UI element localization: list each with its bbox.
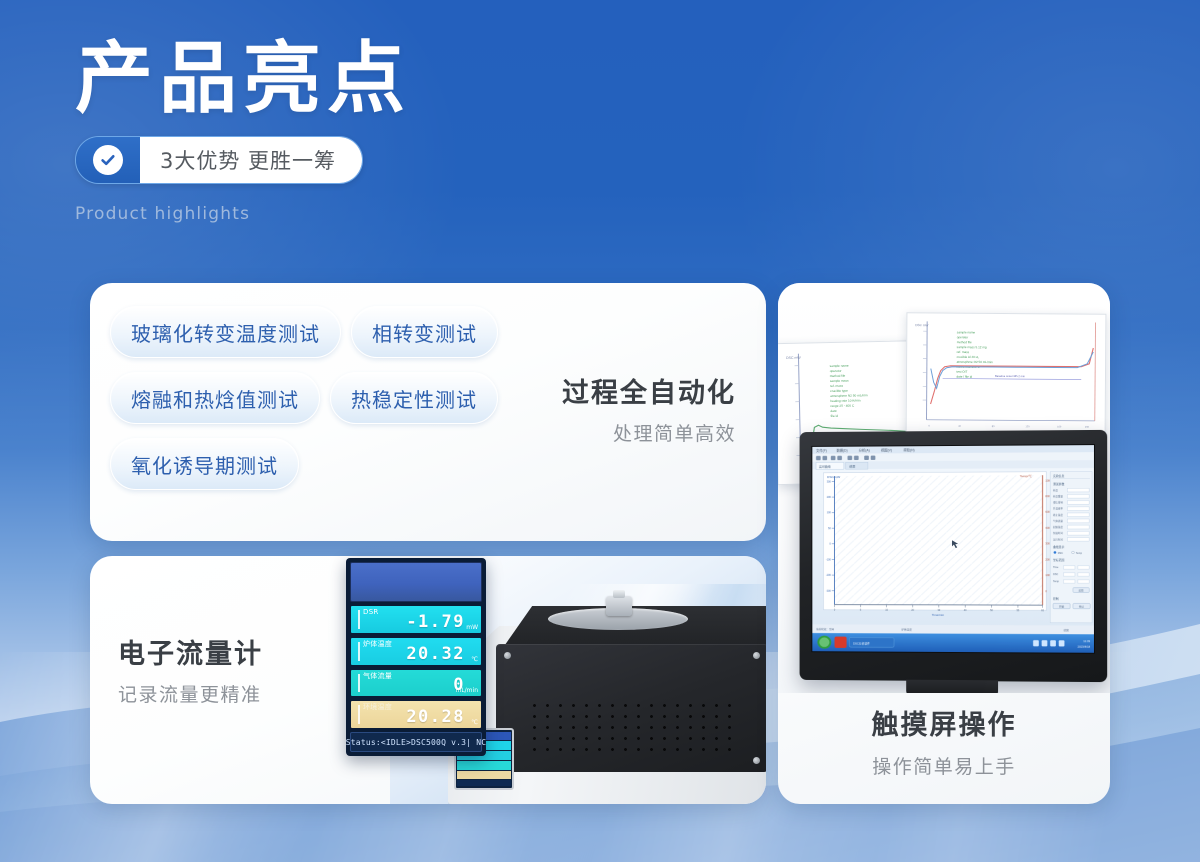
svg-text:DSC mW: DSC mW (915, 323, 928, 327)
feature-tag-row: 氧化诱导期测试 (110, 438, 565, 490)
svg-text:文件(F): 文件(F) (816, 448, 827, 453)
svg-text:停止: 停止 (1079, 604, 1085, 608)
svg-text:300: 300 (827, 480, 832, 483)
panel-screw (753, 652, 760, 659)
instrument-front-panel (496, 644, 766, 772)
svg-text:当前状态：空闲: 当前状态：空闲 (816, 627, 835, 631)
card-touchscreen-operation: sample nameoperator method filesample ma… (778, 283, 1110, 804)
lcd-row-gas-flow: 气体流量 0 mL/min (350, 669, 482, 698)
svg-text:sample name: sample name (957, 330, 976, 334)
flow-title: 电子流量计 (118, 632, 263, 671)
feature-tag[interactable]: 氧化诱导期测试 (110, 438, 299, 490)
badge-icon-area (76, 137, 140, 183)
monitor-screen[interactable]: 文件(F)数据(D) 分析(A)视图(V) 帮助(H) (811, 444, 1095, 654)
dsc-curve-front-chart: DSC mW sample nameoperator method filesa… (906, 312, 1107, 439)
svg-text:date: date (830, 409, 837, 413)
svg-text:600: 600 (1045, 511, 1050, 514)
feature-tag[interactable]: 热稳定性测试 (330, 372, 498, 424)
chart-canvas: DSC mW sample nameoperator method filesa… (907, 313, 1106, 438)
ventilation-grid (528, 700, 738, 756)
badge-label: 3大优势 更胜一筹 (140, 137, 362, 183)
lcd-unit: ℃ (471, 719, 478, 726)
svg-text:Temp: Temp (1053, 581, 1060, 583)
svg-text:crucible type: crucible type (830, 389, 848, 393)
svg-text:file id: file id (831, 414, 839, 418)
svg-text:测试参数: 测试参数 (1053, 482, 1065, 486)
svg-text:400: 400 (1045, 527, 1050, 530)
svg-text:分析(A): 分析(A) (859, 448, 870, 453)
svg-text:11:09: 11:09 (1083, 639, 1090, 643)
svg-text:DSC分析软件: DSC分析软件 (853, 642, 870, 646)
svg-text:DSC: DSC (1058, 553, 1064, 555)
feature-tag-row: 玻璃化转变温度测试 相转变测试 (110, 306, 565, 358)
svg-text:date / file id: date / file id (956, 375, 972, 379)
svg-text:test OIT: test OIT (957, 370, 968, 374)
svg-text:Time/min: Time/min (932, 613, 945, 617)
svg-text:200: 200 (827, 496, 832, 499)
svg-text:method file: method file (957, 340, 972, 344)
svg-text:atmosphere N2 50 mL/min: atmosphere N2 50 mL/min (830, 393, 868, 398)
svg-text:operator: operator (830, 369, 842, 373)
svg-text:Baseline onset 185.2 min: Baseline onset 185.2 min (995, 374, 1025, 378)
svg-text:100: 100 (1045, 574, 1050, 577)
instrument-body (448, 594, 766, 804)
lcd-strip-status (457, 780, 511, 786)
feature-tag[interactable]: 熔融和热焓值测试 (110, 372, 320, 424)
lcd-value: 20.28 (406, 707, 465, 727)
svg-text:数据(D): 数据(D) (836, 448, 847, 453)
svg-text:炉体温度: 炉体温度 (901, 628, 912, 632)
feature-tag[interactable]: 相转变测试 (351, 306, 498, 358)
page-subtitle: Product highlights (75, 204, 411, 224)
feature-tag[interactable]: 玻璃化转变温度测试 (110, 306, 341, 358)
svg-text:控制: 控制 (1053, 597, 1059, 601)
touchscreen-monitor[interactable]: 文件(F)数据(D) 分析(A)视图(V) 帮助(H) (800, 430, 1108, 682)
svg-text:视图(V): 视图(V) (881, 448, 892, 453)
svg-text:ref. mass: ref. mass (830, 384, 844, 388)
flow-meter-lcd-display[interactable]: DSR -1.79 mW 炉体温度 20.32 ℃ 气体流量 0 mL/min … (346, 558, 486, 756)
touchscreen-photo: sample nameoperator method filesample ma… (778, 283, 1110, 693)
svg-text:heating rate 10 K/min: heating rate 10 K/min (830, 398, 860, 403)
feature-caption: 过程全自动化 处理简单高效 (562, 371, 736, 446)
svg-text:-300: -300 (826, 590, 832, 593)
svg-text:Temp: Temp (1076, 553, 1083, 555)
touchscreen-title: 触摸屏操作 (778, 703, 1110, 742)
svg-text:range 25 - 400 C: range 25 - 400 C (830, 404, 855, 408)
svg-text:200: 200 (1085, 426, 1090, 429)
svg-text:结果: 结果 (849, 464, 855, 469)
panel-screw (504, 652, 511, 659)
monitor-stand (906, 680, 998, 693)
svg-text:40: 40 (958, 425, 961, 428)
check-circle-icon (93, 145, 123, 175)
flow-subtitle: 记录流量更精准 (118, 680, 263, 707)
svg-text:crucible Al 40 uL: crucible Al 40 uL (957, 355, 980, 359)
lcd-row-dsr: DSR -1.79 mW (350, 605, 482, 634)
lcd-value: -1.79 (406, 612, 465, 632)
svg-text:DSC/mW: DSC/mW (827, 475, 840, 479)
svg-text:800: 800 (1045, 495, 1050, 498)
svg-text:2023/8/18: 2023/8/18 (1078, 645, 1091, 649)
svg-text:开始: 开始 (1059, 604, 1065, 608)
touchscreen-caption: 触摸屏操作 操作简单易上手 (778, 703, 1110, 779)
svg-text:sample name: sample name (830, 364, 849, 368)
svg-text:sample mass: sample mass (830, 379, 849, 383)
svg-text:sample mass 5.12 mg: sample mass 5.12 mg (957, 345, 987, 349)
svg-text:80: 80 (992, 425, 995, 428)
page-header: 产品亮点 3大优势 更胜一筹 Product highlights (75, 38, 411, 224)
page-title: 产品亮点 (75, 38, 411, 120)
lcd-value: 20.32 (406, 644, 465, 664)
svg-text:帮助(H): 帮助(H) (903, 448, 914, 453)
svg-text:method file: method file (830, 374, 846, 378)
svg-text:曲线显示: 曲线显示 (1053, 545, 1065, 549)
svg-text:160: 160 (1057, 426, 1062, 429)
svg-text:坐标范围: 坐标范围 (1053, 558, 1065, 562)
lcd-row-furnace-temperature: 炉体温度 20.32 ℃ (350, 637, 482, 666)
svg-text:Temp/℃: Temp/℃ (1020, 474, 1032, 478)
lcd-unit: ℃ (471, 656, 478, 663)
svg-text:atmosphere O2 50 mL/min: atmosphere O2 50 mL/min (957, 360, 994, 364)
svg-text:就绪: 就绪 (1063, 628, 1069, 632)
svg-text:operator: operator (957, 335, 968, 339)
svg-text:Time: Time (1053, 567, 1059, 569)
lcd-row-ambient-temperature: 环境温度 20.28 ℃ (350, 700, 482, 729)
lcd-strip-gasflow (457, 761, 511, 770)
svg-text:DSC: DSC (1053, 574, 1059, 576)
svg-text:实验信息: 实验信息 (1053, 474, 1065, 478)
svg-text:120: 120 (1025, 425, 1030, 428)
advantage-badge: 3大优势 更胜一筹 (75, 136, 363, 184)
lcd-unit: mW (466, 624, 478, 631)
svg-text:ref. mass: ref. mass (957, 350, 970, 354)
feature-tag-list: 玻璃化转变温度测试 相转变测试 熔融和热焓值测试 热稳定性测试 氧化诱导期测试 (110, 306, 565, 504)
svg-text:DSC mW: DSC mW (786, 356, 801, 360)
svg-text:300: 300 (1045, 543, 1050, 546)
svg-text:0: 0 (928, 425, 930, 428)
furnace-knob (606, 596, 632, 616)
panel-screw (753, 757, 760, 764)
svg-text:100: 100 (827, 512, 832, 515)
svg-text:-200: -200 (826, 574, 832, 577)
flow-caption: 电子流量计 记录流量更精准 (118, 632, 263, 707)
feature-title: 过程全自动化 (562, 371, 736, 410)
svg-text:-100: -100 (826, 558, 832, 561)
svg-text:实时曲线: 实时曲线 (819, 464, 831, 469)
lcd-status-bar: Status:<IDLE>DSC500Q v.3| NC (350, 732, 482, 752)
touchscreen-subtitle: 操作简单易上手 (778, 752, 1110, 779)
feature-tag-row: 熔融和热焓值测试 热稳定性测试 (110, 372, 565, 424)
lcd-strip-ambient (457, 771, 511, 780)
lcd-header-bar (350, 562, 482, 602)
lcd-unit: mL/min (455, 687, 478, 694)
feature-subtitle: 处理简单高效 (562, 419, 736, 446)
svg-text:200: 200 (1045, 558, 1050, 561)
card-process-automation: 玻璃化转变温度测试 相转变测试 熔融和热焓值测试 热稳定性测试 氧化诱导期测试 … (90, 283, 766, 541)
